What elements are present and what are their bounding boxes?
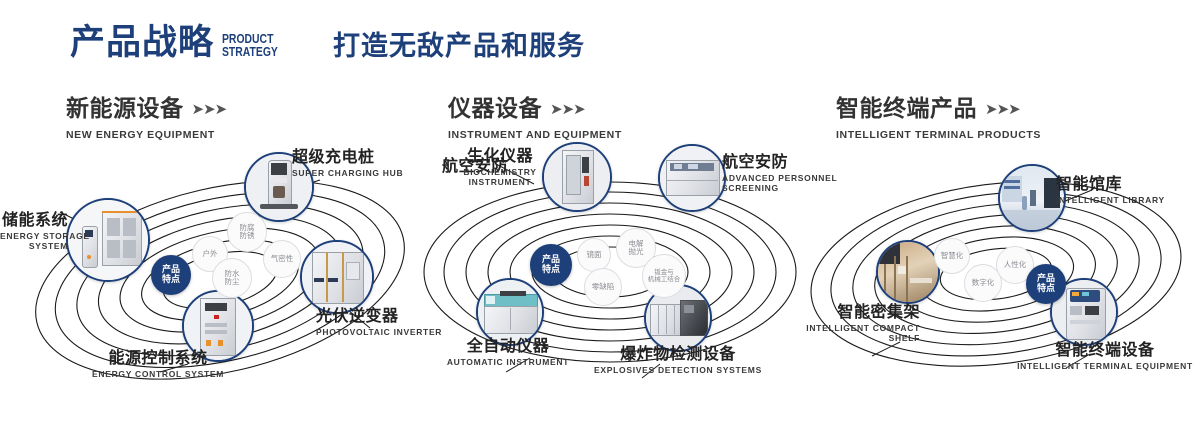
caption-intelligent-library: 智能馆库 INTELLIGENT LIBRARY xyxy=(1056,176,1165,205)
node-advanced-personnel-screening[interactable] xyxy=(658,144,726,212)
caption-super-charging-hub: 超级充电桩 SUPER CHARGING HUB xyxy=(292,149,403,178)
caption-en-line2: INSTRUMENT xyxy=(438,177,562,188)
feature-bubble-anticorrosion[interactable]: 防腐防锈 xyxy=(227,212,267,252)
caption-energy-storage-system: 储能系统 ENERGY STORAGE SYSTEM xyxy=(0,212,68,252)
feature-bubble-sheet-metal[interactable]: 钣金与机械工结合 xyxy=(642,254,686,298)
section-title-intelligent: 智能终端产品➤➤➤ INTELLIGENT TERMINAL PRODUCTS xyxy=(836,98,1041,141)
feature-bubble-waterproof[interactable]: 防水防尘 xyxy=(212,258,252,298)
page-title-en: PRODUCT STRATEGY xyxy=(222,32,278,58)
section-label: 智能终端产品 xyxy=(836,96,977,122)
caption-explosives-detection-systems: 爆炸物检测设备 EXPLOSIVES DETECTION SYSTEMS xyxy=(586,346,770,375)
product-strategy-infographic: 产品战略 PRODUCT STRATEGY 打造无敌产品和服务 新能源设备➤➤➤… xyxy=(0,0,1200,422)
compact-shelf-image xyxy=(878,242,938,302)
caption-en: EXPLOSIVES DETECTION SYSTEMS xyxy=(586,365,770,376)
caption-intelligent-terminal-equipment: 智能终端设备 INTELLIGENT TERMINAL EQUIPMENT xyxy=(1012,342,1198,371)
feature-line2: 防锈 xyxy=(240,231,255,240)
caption-automatic-instrument: 全自动仪器 AUTOMATIC INSTRUMENT xyxy=(418,338,598,367)
caption-cn: 全自动仪器 xyxy=(418,338,598,355)
caption-en: AUTOMATIC INSTRUMENT xyxy=(418,357,598,368)
cluster-instrument-and-equipment: 航空安防 生化仪器 BIOCHEMISTRY INSTRUMENT 航空安防 A… xyxy=(410,150,810,410)
page-title-cn: 产品战略 xyxy=(70,26,214,61)
caption-en: SUPER CHARGING HUB xyxy=(292,168,403,179)
caption-cn: 智能终端设备 xyxy=(1012,342,1198,359)
feature-line1: 智慧化 xyxy=(941,251,964,260)
screening-machine-image xyxy=(660,146,724,210)
section-title-cn: 仪器设备➤➤➤ xyxy=(448,98,622,121)
feature-line1: 产品 xyxy=(1037,274,1055,284)
feature-line2: 抛光 xyxy=(629,247,644,256)
section-title-cn: 智能终端产品➤➤➤ xyxy=(836,98,1041,121)
feature-line2: 特点 xyxy=(542,265,560,275)
automatic-analyzer-image xyxy=(478,280,542,344)
caption-cn: 智能密集架 xyxy=(730,304,920,321)
feature-bubble-primary[interactable]: 产品特点 xyxy=(530,244,572,286)
feature-line1: 人性化 xyxy=(1004,260,1027,269)
caption-cn: 爆炸物检测设备 xyxy=(586,346,770,363)
feature-line1: 气密性 xyxy=(271,254,294,263)
feature-bubble-intelligent[interactable]: 智慧化 xyxy=(934,238,970,274)
chevrons-right-icon: ➤➤➤ xyxy=(192,102,227,117)
caption-biochemistry-instrument: 生化仪器 BIOCHEMISTRY INSTRUMENT xyxy=(438,148,562,188)
library-interior-image xyxy=(1000,166,1064,230)
feature-line1: 零缺陷 xyxy=(592,282,615,291)
caption-en-line1: ENERGY STORAGE xyxy=(0,231,68,242)
caption-cn: 储能系统 xyxy=(0,212,68,229)
feature-line1: 户外 xyxy=(203,249,218,258)
page-title-en-line2: STRATEGY xyxy=(222,45,278,58)
caption-cn: 超级充电桩 xyxy=(292,149,403,166)
feature-bubble-zero-defect[interactable]: 零缺陷 xyxy=(584,268,622,306)
caption-en-line1: INTELLIGENT COMPACT xyxy=(730,323,920,334)
inverter-cabinet-image xyxy=(302,242,372,312)
caption-intelligent-compact-shelf: 智能密集架 INTELLIGENT COMPACT SHELF xyxy=(730,304,920,344)
section-title-en: NEW ENERGY EQUIPMENT xyxy=(66,130,226,141)
feature-line2: 机械工结合 xyxy=(648,275,681,283)
caption-cn: 智能馆库 xyxy=(1056,176,1165,193)
section-title-new-energy: 新能源设备➤➤➤ NEW ENERGY EQUIPMENT xyxy=(66,98,226,141)
feature-line2: 特点 xyxy=(1037,284,1055,294)
cluster-new-energy-equipment: 储能系统 ENERGY STORAGE SYSTEM 超级充电桩 SUPER C… xyxy=(20,150,420,410)
caption-en-line2: SYSTEM xyxy=(0,241,68,252)
header: 产品战略 PRODUCT STRATEGY 打造无敌产品和服务 xyxy=(0,0,1200,92)
caption-en: ENERGY STORAGE SYSTEM xyxy=(0,231,68,252)
caption-en-line2: SHELF xyxy=(730,333,920,344)
feature-line1: 产品 xyxy=(542,255,560,265)
feature-bubble-primary[interactable]: 产品特点 xyxy=(1026,264,1066,304)
feature-line1: 数字化 xyxy=(972,278,995,287)
cluster-intelligent-terminal-products: 智能馆库 INTELLIGENT LIBRARY 智能密集架 INTELLIGE… xyxy=(800,150,1200,410)
feature-bubble-primary[interactable]: 产品特点 xyxy=(151,255,191,295)
feature-line2: 防尘 xyxy=(225,277,240,286)
feature-line2: 特点 xyxy=(162,275,180,285)
caption-en: INTELLIGENT TERMINAL EQUIPMENT xyxy=(1012,361,1198,372)
section-title-en: INSTRUMENT AND EQUIPMENT xyxy=(448,130,622,141)
caption-energy-control-system: 能源控制系统 ENERGY CONTROL SYSTEM xyxy=(68,350,248,379)
chevrons-right-icon: ➤➤➤ xyxy=(550,102,585,117)
caption-cn: 能源控制系统 xyxy=(68,350,248,367)
section-title-en: INTELLIGENT TERMINAL PRODUCTS xyxy=(836,130,1041,141)
caption-en-line1: BIOCHEMISTRY xyxy=(438,167,562,178)
section-title-instrument: 仪器设备➤➤➤ INSTRUMENT AND EQUIPMENT xyxy=(448,98,622,141)
section-title-cn: 新能源设备➤➤➤ xyxy=(66,98,226,121)
node-intelligent-compact-shelf[interactable] xyxy=(876,240,940,304)
caption-en: ENERGY CONTROL SYSTEM xyxy=(68,369,248,380)
feature-bubble-mirror[interactable]: 镜面 xyxy=(577,238,611,272)
chevrons-right-icon: ➤➤➤ xyxy=(985,102,1020,117)
section-label: 仪器设备 xyxy=(448,96,542,122)
section-label: 新能源设备 xyxy=(66,96,184,122)
feature-line1: 产品 xyxy=(162,265,180,275)
caption-en: INTELLIGENT COMPACT SHELF xyxy=(730,323,920,344)
caption-cn: 生化仪器 xyxy=(438,148,562,165)
page-subtitle: 打造无敌产品和服务 xyxy=(333,33,585,60)
caption-en: BIOCHEMISTRY INSTRUMENT xyxy=(438,167,562,188)
caption-en: INTELLIGENT LIBRARY xyxy=(1056,195,1165,206)
feature-bubble-airtightness[interactable]: 气密性 xyxy=(263,240,301,278)
node-photovoltaic-inverter[interactable] xyxy=(300,240,374,314)
feature-line1: 镜面 xyxy=(587,250,602,259)
